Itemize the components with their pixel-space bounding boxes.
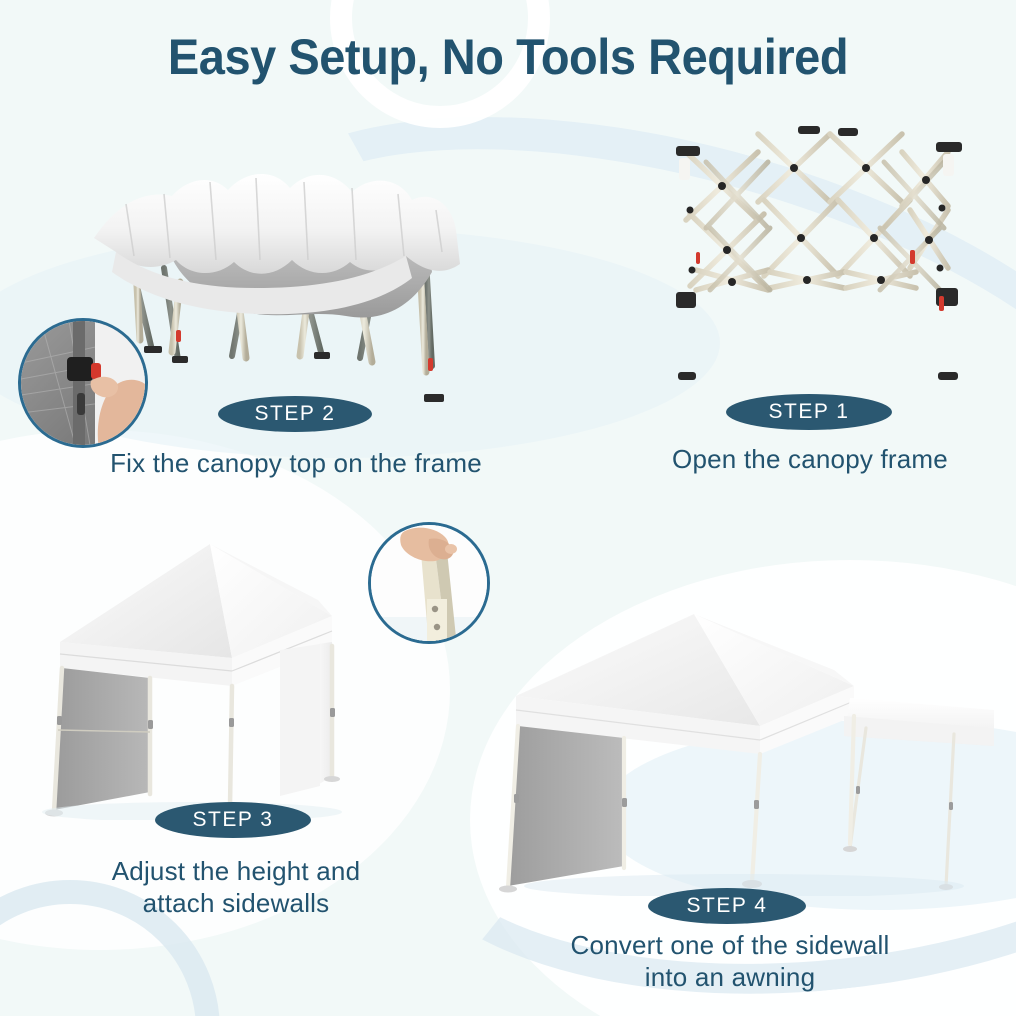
infographic-canvas: Easy Setup, No Tools Required bbox=[0, 0, 1016, 1016]
step-1-caption: Open the canopy frame bbox=[600, 444, 1016, 476]
step-2-caption: Fix the canopy top on the frame bbox=[40, 448, 552, 480]
step-2-badge: STEP 2 bbox=[218, 396, 372, 432]
step-4-badge: STEP 4 bbox=[648, 888, 806, 924]
step-4-caption: Convert one of the sidewall into an awni… bbox=[506, 930, 954, 993]
step-3-badge: STEP 3 bbox=[155, 802, 311, 838]
step-4-awning-illustration bbox=[494, 586, 994, 896]
step-1-frame-illustration bbox=[648, 110, 988, 400]
step-2-detail-inset bbox=[18, 318, 148, 448]
step-2-inset-art bbox=[21, 321, 148, 448]
step-3-inset-art bbox=[371, 525, 490, 644]
step-1-badge: STEP 1 bbox=[726, 394, 892, 430]
step-3-detail-inset bbox=[368, 522, 490, 644]
step-3-caption: Adjust the height and attach sidewalls bbox=[26, 856, 446, 919]
page-title: Easy Setup, No Tools Required bbox=[30, 28, 985, 86]
